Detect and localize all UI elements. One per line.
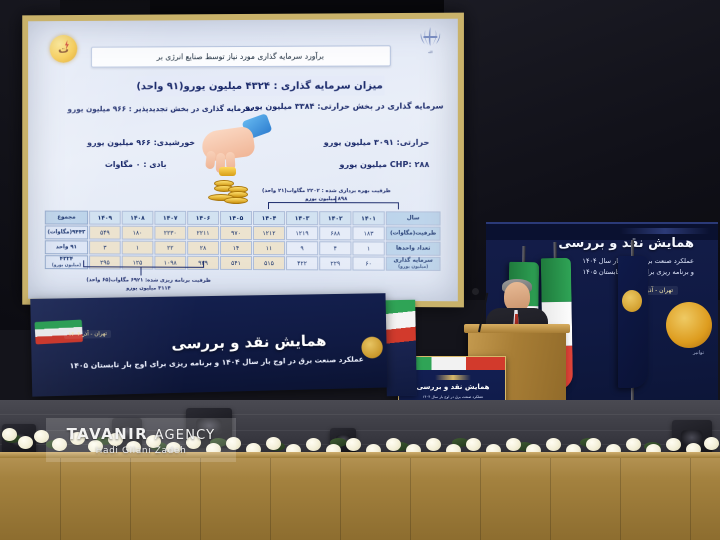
finger xyxy=(205,151,216,170)
investment-cell: ۶۰ xyxy=(352,256,384,271)
thermal-detail-chp: CHP: ۲۸۸ میلیون یورو xyxy=(340,160,430,169)
slide-title-bar: برآورد سرمایه گذاری مورد نیاز توسط صنایع… xyxy=(91,45,391,67)
watermark-agency-suffix: AGENCY xyxy=(155,428,216,443)
slide-subtitle: میزان سرمایه گذاری : ۴۳۲۴ میلیون یورو(۹۱… xyxy=(136,80,382,92)
bracket-bottom-tick xyxy=(141,267,142,276)
year-cell: ۱۴۰۵ xyxy=(220,211,252,225)
bracket-top-tick xyxy=(335,196,336,203)
table-row: تعداد واحدها ۱ ۴ ۹ ۱۱ ۱۴ ۲۸ ۲۲ ۱ ۳ ۹۱ وا… xyxy=(45,240,441,255)
investment-cell: ۲۲۹ xyxy=(319,256,351,271)
organization-flag xyxy=(616,250,650,400)
units-cell: ۱۱ xyxy=(253,241,285,255)
row-header-units: تعداد واحدها xyxy=(386,242,441,256)
capacity-cell: ۲۲۳۰ xyxy=(154,226,186,240)
capacity-total: ۹۴۴۲(مگاوات) xyxy=(45,225,88,239)
annotation-planned-capacity: ظرفیت برنامه ریزی شده: ۶۹۲۱ مگاوات(۶۵ وا… xyxy=(50,277,248,294)
bracket-top xyxy=(268,202,399,209)
row-header-investment-main: سرمایه گذاری xyxy=(393,258,432,264)
stage-front-panel xyxy=(0,452,720,540)
renewable-detail-wind: بادی : ۰ مگاوات xyxy=(105,160,167,169)
photo-scene: ت الله برآورد سرمایه گذاری مورد نیاز توس… xyxy=(0,0,720,540)
units-cell: ۳ xyxy=(89,240,121,254)
watermark-photographer: Hadi Gilani Zadeh xyxy=(96,446,187,456)
projection-screen: ت الله برآورد سرمایه گذاری مورد نیاز توس… xyxy=(22,13,464,308)
banner-right-title: همایش نقد و بررسی xyxy=(558,236,694,251)
year-cell: ۱۴۰۷ xyxy=(154,211,186,225)
year-cell: ۱۴۰۹ xyxy=(89,211,121,225)
side-flag-panel xyxy=(385,300,417,397)
banner-decoration xyxy=(620,228,710,234)
thermal-heading: سرمایه گذاری در بخش حرارتی: ۳۳۸۴ میلیون … xyxy=(245,101,444,110)
total-header: مجموع xyxy=(45,211,88,225)
year-cell: ۱۴۰۴ xyxy=(253,211,285,225)
investment-total-unit: (میلیون یورو) xyxy=(47,263,86,269)
year-cell: ۱۴۰۶ xyxy=(187,211,219,225)
annotation-operating-line1: ظرفیت بهره برداری شده : ۲۲۰۲ مگاوات(۲۱ و… xyxy=(242,188,411,196)
presentation-slide: ت الله برآورد سرمایه گذاری مورد نیاز توس… xyxy=(28,19,458,302)
stage-banner: تهران - آذر ۱۴۰۴ همایش نقد و بررسی عملکر… xyxy=(30,293,387,396)
annotation-planned-line2: ۳۱۱۴ میلیون یورو xyxy=(50,285,248,294)
units-cell: ۱ xyxy=(352,241,384,255)
slide-subtitle-bar: میزان سرمایه گذاری : ۴۳۲۴ میلیون یورو(۹۱… xyxy=(135,75,385,96)
banner-right-logo-caption: توانیر xyxy=(693,350,704,356)
row-header-year: سال xyxy=(386,211,441,225)
units-cell: ۲۲ xyxy=(154,241,186,255)
units-cell: ۱۴ xyxy=(220,241,252,255)
tavanir-logo-icon: ت xyxy=(50,35,78,63)
microphone-icon xyxy=(472,288,479,295)
slide-title: برآورد سرمایه گذاری مورد نیاز توسط صنایع… xyxy=(157,52,324,62)
watermark: TAVANIR AGENCY Hadi Gilani Zadeh xyxy=(46,418,236,462)
capacity-cell: ۹۷۰ xyxy=(220,226,252,240)
capacity-cell: ۱۲۱۲ xyxy=(253,226,285,240)
capacity-cell: ۱۸۳ xyxy=(352,226,384,240)
stage-banner-title: همایش نقد و بررسی xyxy=(171,332,326,353)
coin-held-icon xyxy=(219,167,236,176)
row-header-investment: سرمایه گذاری (میلیون یورو) xyxy=(386,257,441,272)
tavanir-logo-icon xyxy=(666,302,712,348)
year-cell: ۱۴۰۳ xyxy=(286,211,318,225)
table-row: ظرفیت(مگاوات) ۱۸۳ ۶۸۸ ۱۲۱۹ ۱۲۱۲ ۹۷۰ ۲۲۱۱… xyxy=(45,225,441,240)
tavanir-logo-icon xyxy=(622,290,642,312)
units-cell: ۴ xyxy=(319,241,351,255)
investment-total-value: ۴۳۲۴ xyxy=(60,256,73,262)
emblem-caption: الله xyxy=(428,50,433,54)
watermark-agency-name: TAVANIR xyxy=(67,425,148,443)
bracket-bottom xyxy=(83,260,204,268)
units-cell: ۱ xyxy=(122,241,154,255)
stage-banner-date: تهران - آذر ۱۴۰۴ xyxy=(64,330,111,339)
sign-badge xyxy=(435,375,471,380)
units-cell: ۹ xyxy=(286,241,318,255)
year-cell: ۱۴۰۱ xyxy=(352,211,384,225)
year-cell: ۱۴۰۸ xyxy=(122,211,154,225)
capacity-cell: ۲۲۱۱ xyxy=(187,226,219,240)
investment-cell: ۴۲۲ xyxy=(286,256,318,271)
year-cell: ۱۴۰۲ xyxy=(319,211,351,225)
row-header-investment-unit: (میلیون یورو) xyxy=(388,265,439,271)
capacity-cell: ۵۴۹ xyxy=(89,226,121,240)
watermark-agency: TAVANIR AGENCY xyxy=(67,425,216,443)
flag-cloth xyxy=(618,256,648,388)
units-total: ۹۱ واحد xyxy=(45,240,88,254)
capacity-cell: ۱۲۱۹ xyxy=(286,226,318,240)
investment-cell: ۵۱۵ xyxy=(253,256,285,271)
thermal-detail-thermal: حرارتی: ۳۰۹۱ میلیون یورو xyxy=(324,138,430,147)
table-row: سال ۱۴۰۱ ۱۴۰۲ ۱۴۰۳ ۱۴۰۴ ۱۴۰۵ ۱۴۰۶ ۱۴۰۷ ۱… xyxy=(45,211,441,226)
renewable-detail-solar: خورشیدی: ۹۶۶ میلیون یورو xyxy=(87,138,195,147)
investment-cell: ۵۴۱ xyxy=(220,256,252,271)
units-cell: ۲۸ xyxy=(187,241,219,255)
row-header-capacity: ظرفیت(مگاوات) xyxy=(386,226,441,240)
iran-emblem-icon: الله xyxy=(415,25,445,59)
capacity-cell: ۱۸۰ xyxy=(122,226,154,240)
renewable-heading: سرمایه گذاری در بخش تجدیدپذیر : ۹۶۶ میلی… xyxy=(67,104,253,113)
capacity-cell: ۶۸۸ xyxy=(319,226,351,240)
investment-total: ۴۳۲۴ (میلیون یورو) xyxy=(45,255,88,270)
